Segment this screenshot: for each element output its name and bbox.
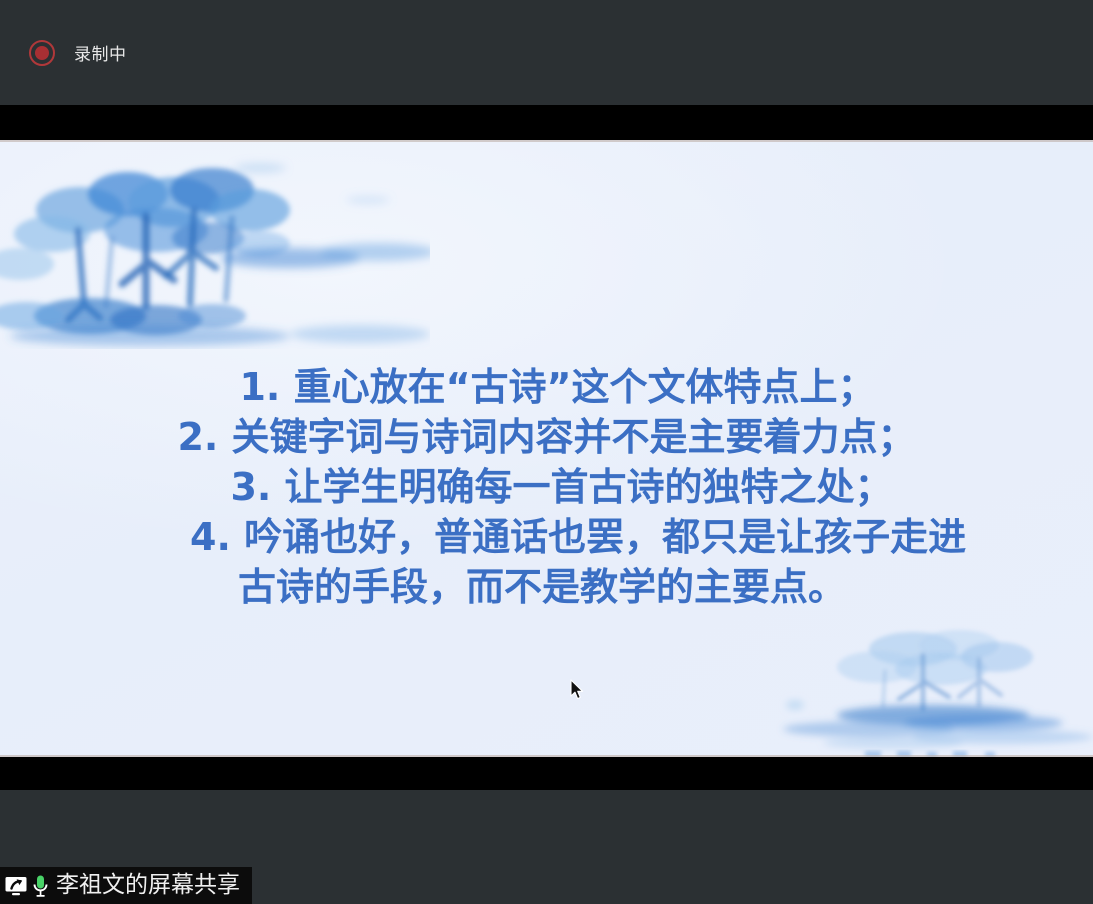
slide-line-3: 3. 让学生明确每一首古诗的独特之处； <box>0 462 1093 512</box>
screen-share-icon <box>4 875 28 897</box>
letterbox-bottom-bar <box>0 757 1093 790</box>
slide-line-4-text: 4. 吟诵也好，普通话也罢，都只是让孩子走进古诗的手段，而不是教学的主要点。 <box>190 512 990 612</box>
ink-wash-landscape-bottom-right-icon <box>773 611 1093 757</box>
recording-status-bar: 录制中 <box>0 0 1093 105</box>
slide-line-4: 4. 吟诵也好，普通话也罢，都只是让孩子走进古诗的手段，而不是教学的主要点。 <box>0 512 990 612</box>
ink-wash-landscape-top-left-icon <box>0 140 430 349</box>
microphone-icon <box>32 874 49 898</box>
screen-share-label: 李祖文的屏幕共享 <box>56 874 240 897</box>
screen-share-status-chip[interactable]: 李祖文的屏幕共享 <box>0 867 252 904</box>
slide-text-block: 1. 重心放在“古诗”这个文体特点上； 2. 关键字词与诗词内容并不是主要着力点… <box>0 362 1093 612</box>
shared-screen-slide[interactable]: 1. 重心放在“古诗”这个文体特点上； 2. 关键字词与诗词内容并不是主要着力点… <box>0 140 1093 757</box>
recording-status-label: 录制中 <box>74 40 127 65</box>
record-dot-icon <box>29 40 55 66</box>
slide-line-1: 1. 重心放在“古诗”这个文体特点上； <box>0 362 1093 412</box>
slide-line-2: 2. 关键字词与诗词内容并不是主要着力点； <box>0 412 1093 462</box>
slide-top-border <box>0 140 1093 142</box>
letterbox-top-bar <box>0 105 1093 140</box>
